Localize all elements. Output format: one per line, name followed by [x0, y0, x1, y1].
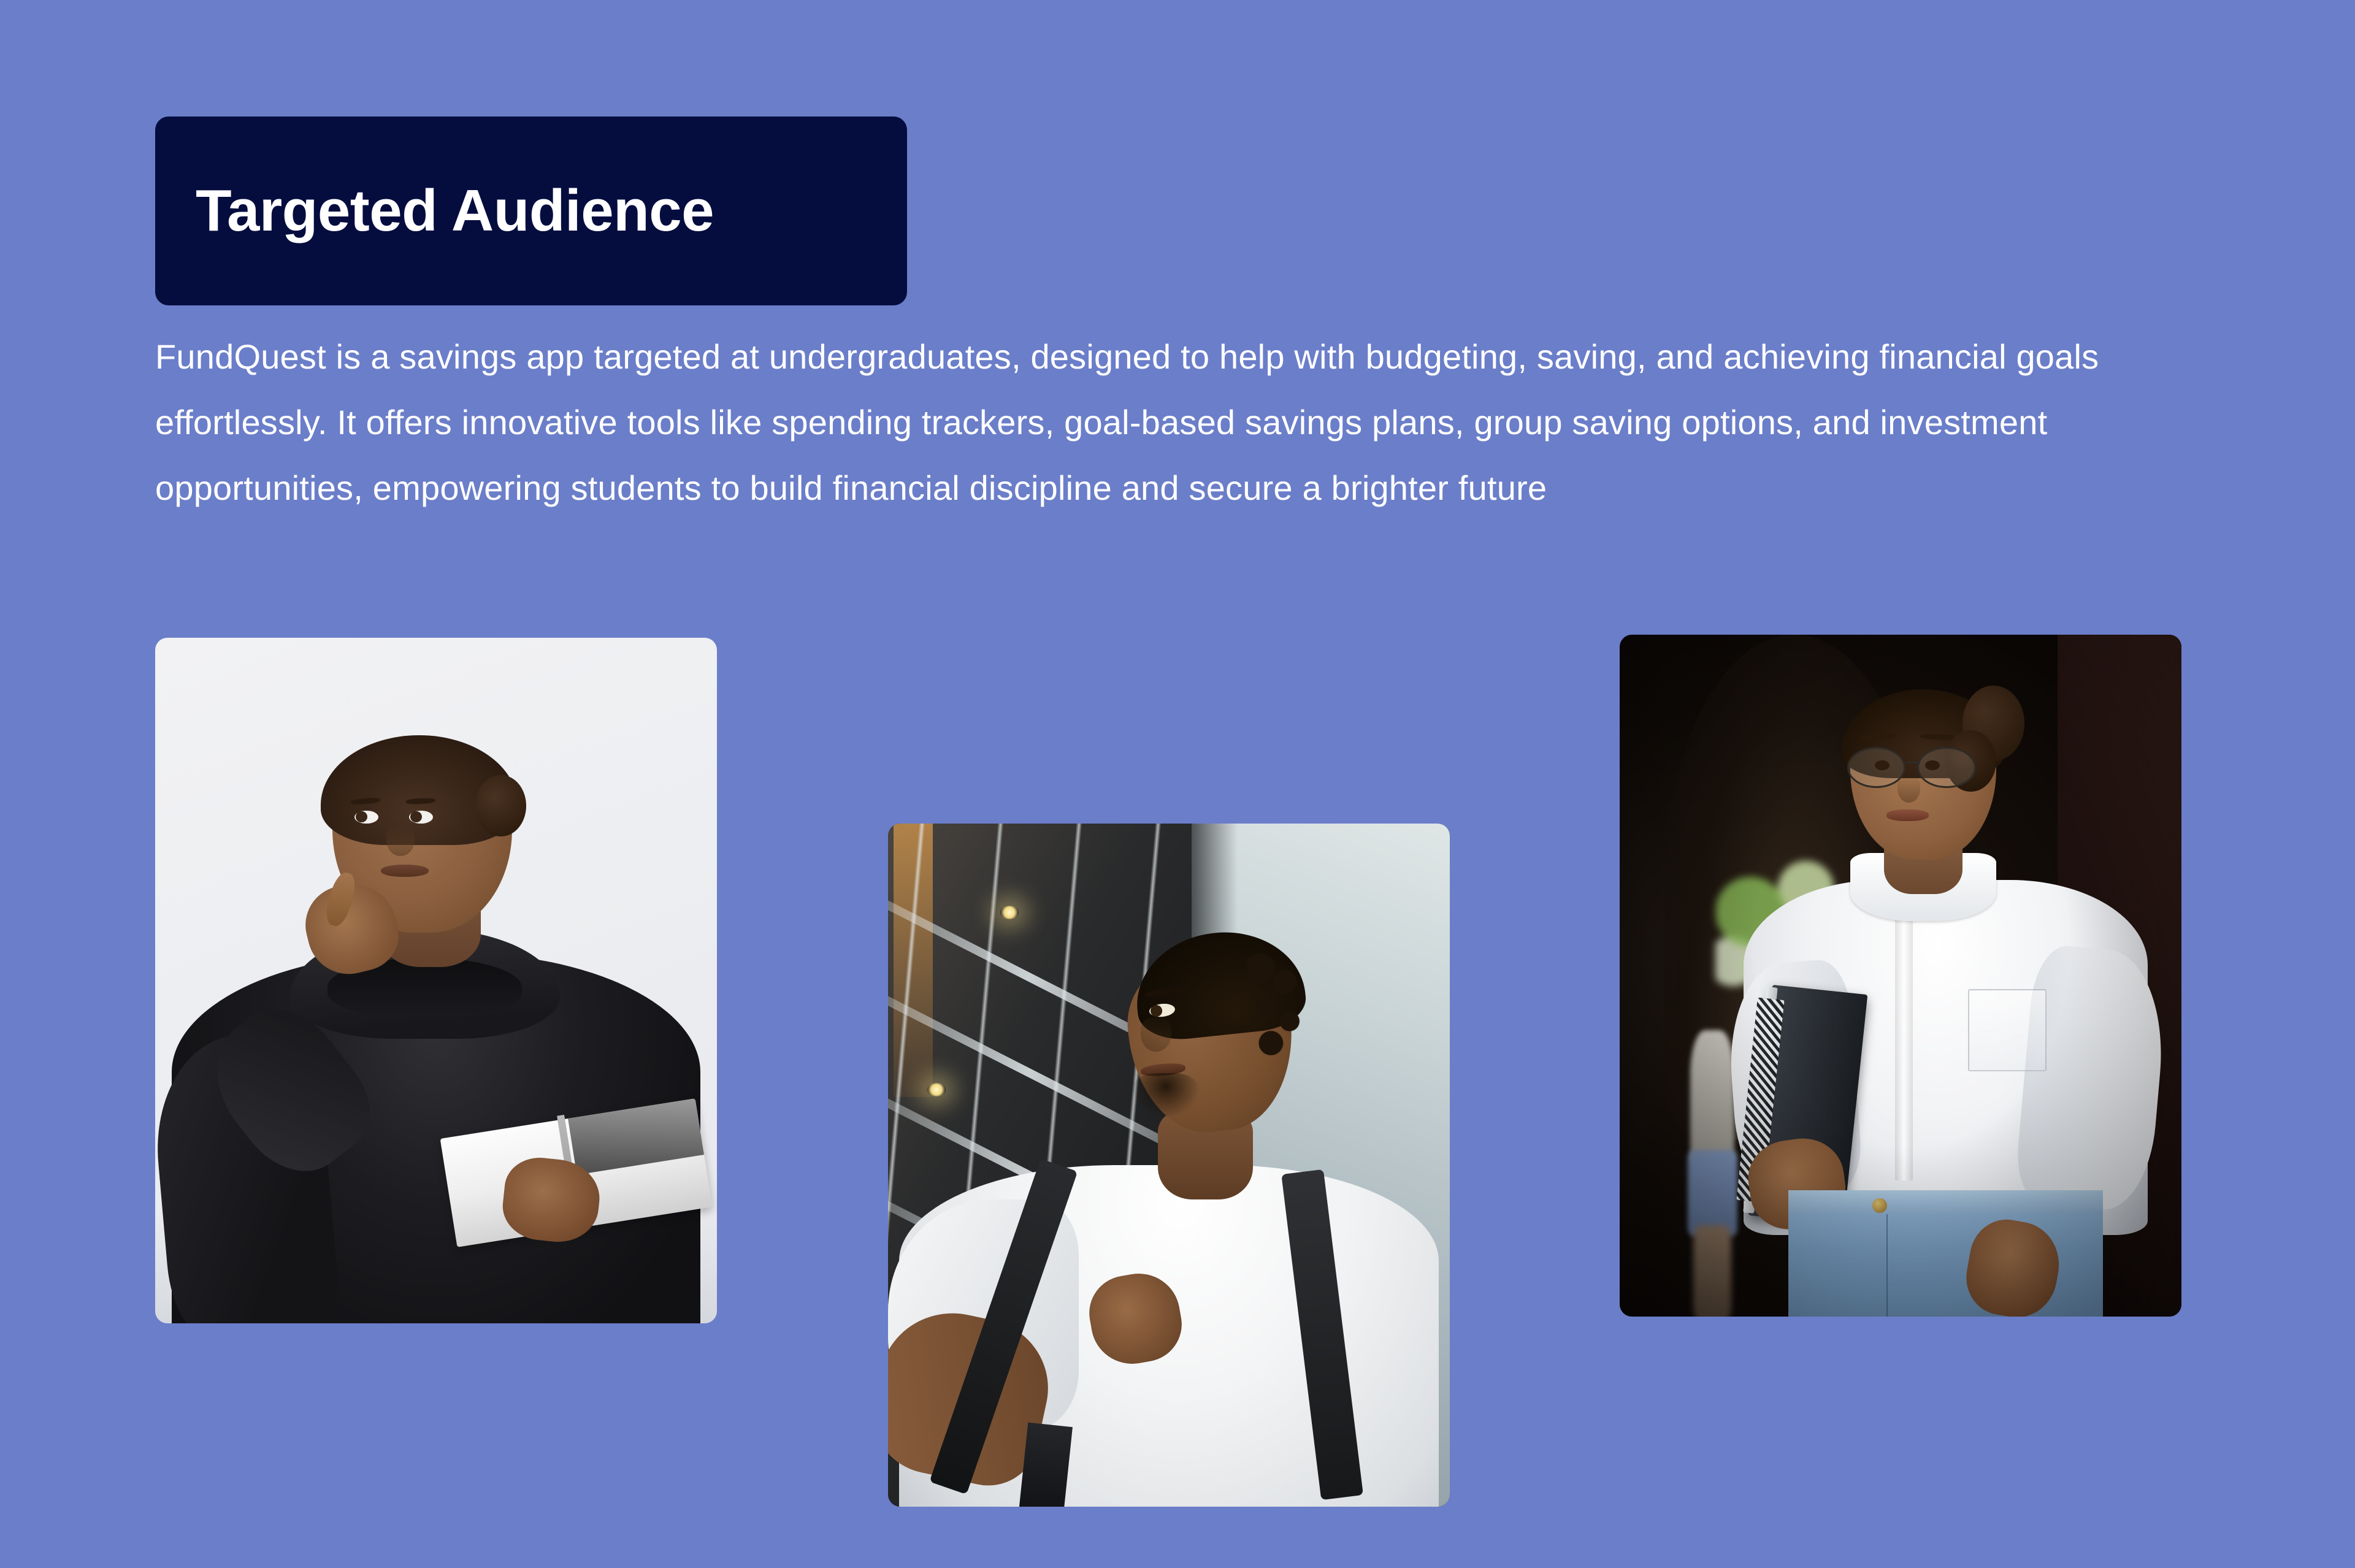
slide-canvas: Targeted Audience FundQuest is a savings… [0, 0, 2355, 1568]
hair-bun [475, 775, 526, 837]
page-title-badge: Targeted Audience [155, 117, 907, 305]
vignette-overlay [1620, 635, 2181, 1317]
beard [1132, 1073, 1200, 1117]
photo-student-thinking [155, 638, 717, 1323]
photo-card-student-backpack [888, 824, 1450, 1507]
photo-card-student-thinking [155, 638, 717, 1323]
nose [386, 824, 415, 855]
right-eye [409, 811, 432, 824]
description-paragraph: FundQuest is a savings app targeted at u… [155, 324, 2136, 521]
photo-student-backpack [888, 824, 1450, 1507]
mouth [381, 865, 429, 877]
left-eye [354, 811, 378, 824]
photo-card-student-laptop [1620, 635, 2181, 1317]
backpack-strap-lower [1018, 1423, 1073, 1507]
page-title: Targeted Audience [155, 177, 714, 245]
nose [1141, 1017, 1171, 1052]
ceiling-light [1000, 906, 1019, 919]
hair-locks [1247, 954, 1309, 1063]
photo-student-laptop [1620, 635, 2181, 1317]
